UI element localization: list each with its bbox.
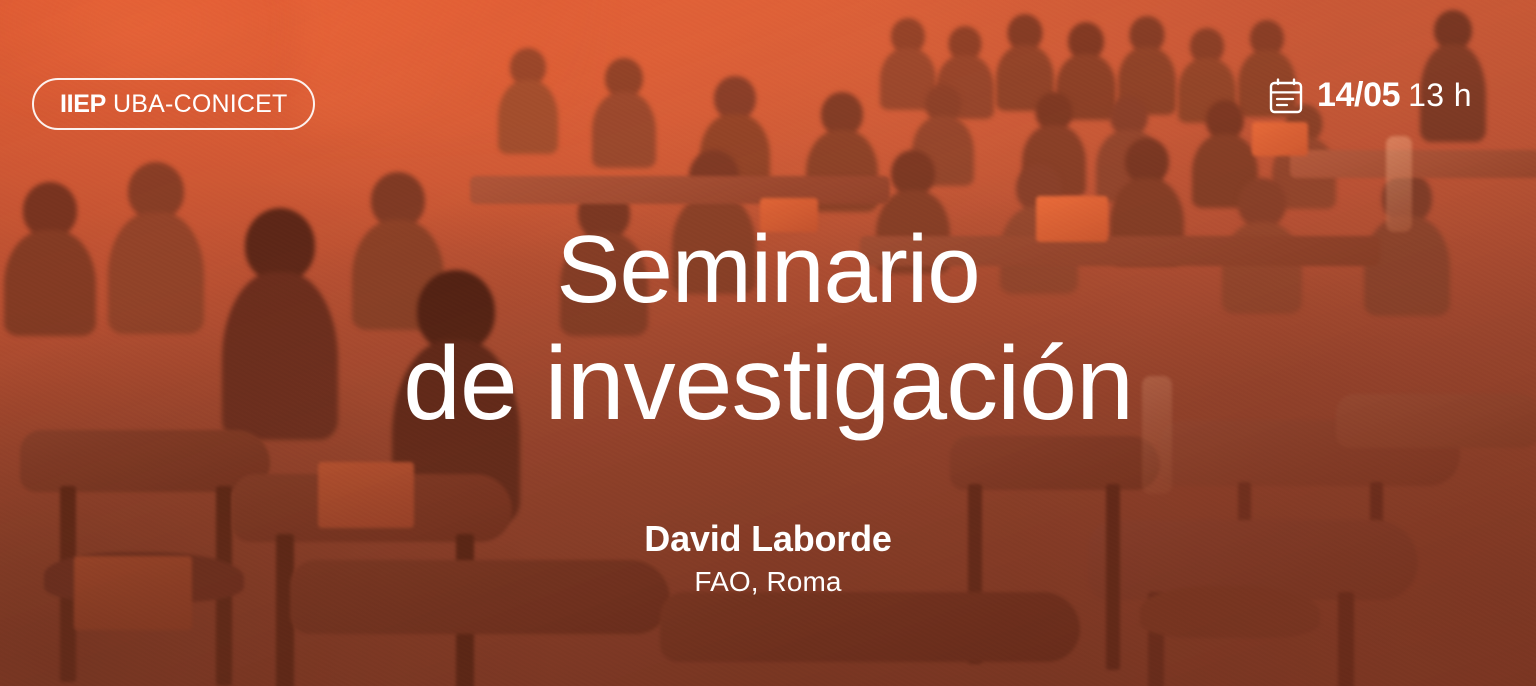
institution-badge-rest: UBA-CONICET xyxy=(113,90,287,119)
event-date-block: 14/0513 h xyxy=(1269,76,1472,115)
event-title: Seminario de investigación xyxy=(0,222,1536,436)
banner-content: IIEP UBA-CONICET 14/0513 h Seminario xyxy=(0,0,1536,686)
event-date-value: 14/0513 h xyxy=(1317,76,1472,115)
event-title-line-2-text: de investigación xyxy=(403,332,1133,436)
institution-badge: IIEP UBA-CONICET xyxy=(32,78,315,130)
speaker-name: David Laborde xyxy=(0,518,1536,560)
speaker-affiliation: FAO, Roma xyxy=(0,566,1536,598)
event-title-line-2: de investigación xyxy=(0,332,1536,436)
calendar-icon xyxy=(1269,78,1303,114)
event-title-line-1-text: Seminario xyxy=(556,222,979,318)
event-time: 13 h xyxy=(1408,77,1472,113)
event-day-month: 14/05 xyxy=(1317,76,1400,114)
event-banner: IIEP UBA-CONICET 14/0513 h Seminario xyxy=(0,0,1536,686)
speaker-block: David Laborde FAO, Roma xyxy=(0,518,1536,598)
event-title-line-1: Seminario xyxy=(0,222,1536,318)
institution-badge-acronym: IIEP xyxy=(60,90,106,119)
